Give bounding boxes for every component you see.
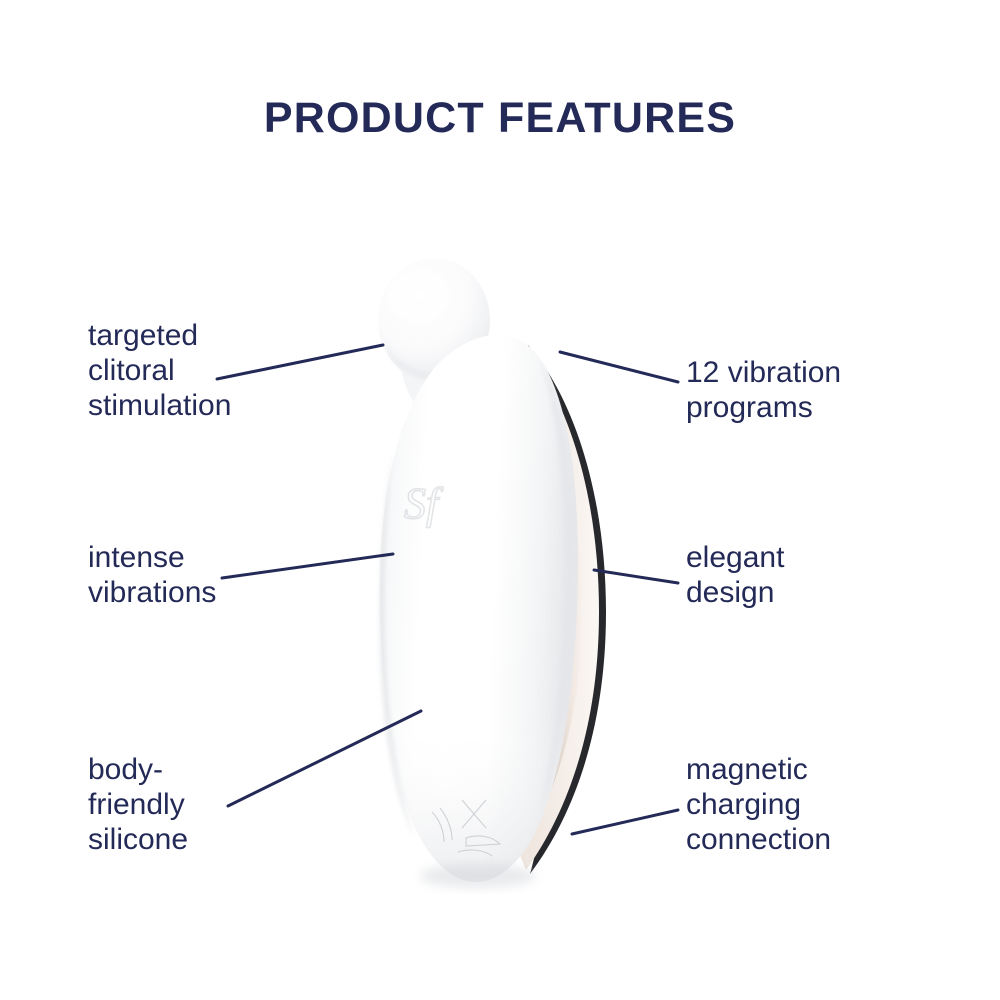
svg-text:Sf: Sf (404, 479, 444, 528)
callout-label-intense-vibrations: intense vibrations (88, 540, 216, 610)
callout-label-body-friendly-silicone: body- friendly silicone (88, 752, 188, 857)
product-features-page: PRODUCT FEATURES (0, 0, 1000, 1000)
callout-label-magnetic-charging-connection: magnetic charging connection (686, 752, 831, 857)
callout-label-targeted-clitoral-stimulation: targeted clitoral stimulation (88, 318, 231, 423)
brand-logo: Sf (404, 479, 444, 528)
callout-label-12-vibration-programs: 12 vibration programs (686, 355, 841, 425)
callout-label-elegant-design: elegant design (686, 540, 784, 610)
